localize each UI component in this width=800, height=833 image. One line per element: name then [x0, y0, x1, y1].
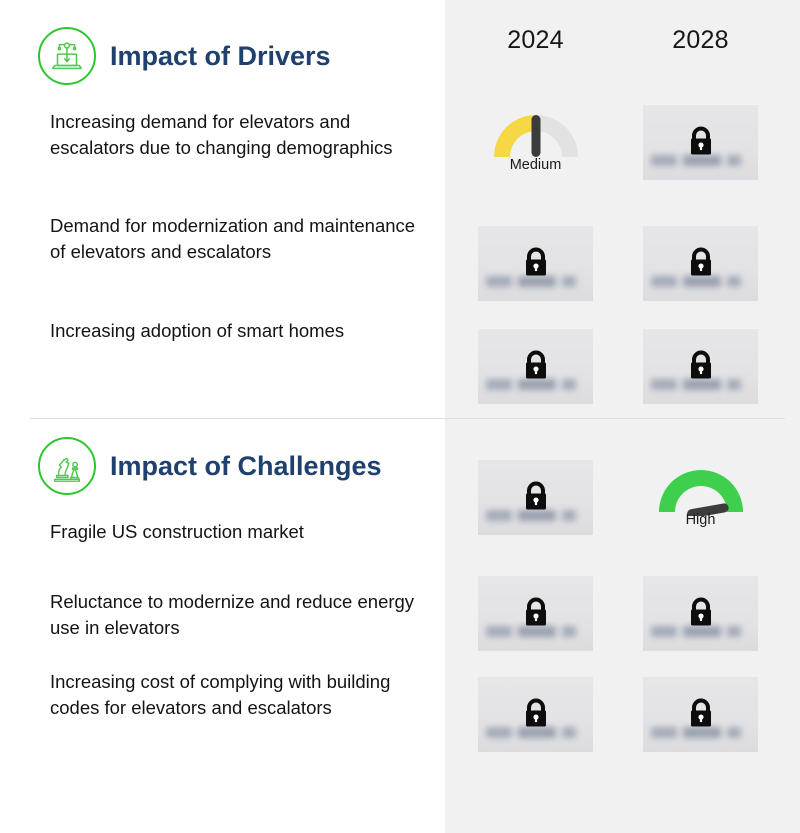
- innovation-laptop-icon: [38, 27, 96, 85]
- lock-icon: [685, 594, 717, 630]
- challenge-item-2-text: Reluctance to modernize and reduce energ…: [50, 589, 430, 641]
- cell-challenges-2-2024[interactable]: [478, 576, 593, 651]
- locked-tile[interactable]: [643, 105, 758, 180]
- challenge-item-3-text: Increasing cost of complying with buildi…: [50, 669, 430, 721]
- section-title-challenges: Impact of Challenges: [110, 451, 382, 482]
- lock-icon: [520, 347, 552, 383]
- locked-tile[interactable]: [643, 576, 758, 651]
- gauge-label-high: High: [643, 512, 758, 528]
- cell-challenges-1-2028[interactable]: High: [643, 460, 758, 535]
- impact-matrix-slide: 2024 2028 Impact of Drivers Increasing d…: [0, 0, 800, 833]
- lock-icon: [520, 594, 552, 630]
- cell-challenges-1-2024[interactable]: [478, 460, 593, 535]
- locked-tile[interactable]: [478, 226, 593, 301]
- locked-tile[interactable]: [643, 677, 758, 752]
- column-header-2028: 2028: [643, 26, 758, 55]
- locked-tile[interactable]: [478, 576, 593, 651]
- locked-tile[interactable]: [478, 329, 593, 404]
- lock-icon: [520, 478, 552, 514]
- cell-drivers-2-2024[interactable]: [478, 226, 593, 301]
- gauge-label-medium: Medium: [478, 157, 593, 173]
- lock-icon: [685, 123, 717, 159]
- lock-icon: [685, 695, 717, 731]
- cell-drivers-2-2028[interactable]: [643, 226, 758, 301]
- cell-drivers-3-2028[interactable]: [643, 329, 758, 404]
- cell-drivers-3-2024[interactable]: [478, 329, 593, 404]
- cell-drivers-1-2028[interactable]: [643, 105, 758, 180]
- gauge-dial-medium: [488, 109, 584, 161]
- lock-icon: [520, 244, 552, 280]
- gauge-medium: Medium: [478, 105, 593, 180]
- challenge-item-1-text: Fragile US construction market: [50, 519, 430, 545]
- locked-tile[interactable]: [478, 460, 593, 535]
- gauge-dial-high: [653, 464, 749, 516]
- driver-item-1-text: Increasing demand for elevators and esca…: [50, 109, 430, 161]
- section-title-drivers: Impact of Drivers: [110, 41, 331, 72]
- gauge-high: High: [643, 460, 758, 535]
- section-header-drivers: Impact of Drivers: [38, 27, 331, 85]
- cell-challenges-3-2028[interactable]: [643, 677, 758, 752]
- driver-item-3-text: Increasing adoption of smart homes: [50, 318, 430, 344]
- cell-drivers-1-2024[interactable]: Medium: [478, 105, 593, 180]
- section-divider: [30, 418, 785, 419]
- locked-tile[interactable]: [478, 677, 593, 752]
- chess-pieces-icon: [38, 437, 96, 495]
- section-header-challenges: Impact of Challenges: [38, 437, 382, 495]
- lock-icon: [685, 244, 717, 280]
- driver-item-2-text: Demand for modernization and maintenance…: [50, 213, 430, 265]
- column-header-2024: 2024: [478, 26, 593, 55]
- locked-tile[interactable]: [643, 329, 758, 404]
- lock-icon: [685, 347, 717, 383]
- cell-challenges-3-2024[interactable]: [478, 677, 593, 752]
- lock-icon: [520, 695, 552, 731]
- cell-challenges-2-2028[interactable]: [643, 576, 758, 651]
- locked-tile[interactable]: [643, 226, 758, 301]
